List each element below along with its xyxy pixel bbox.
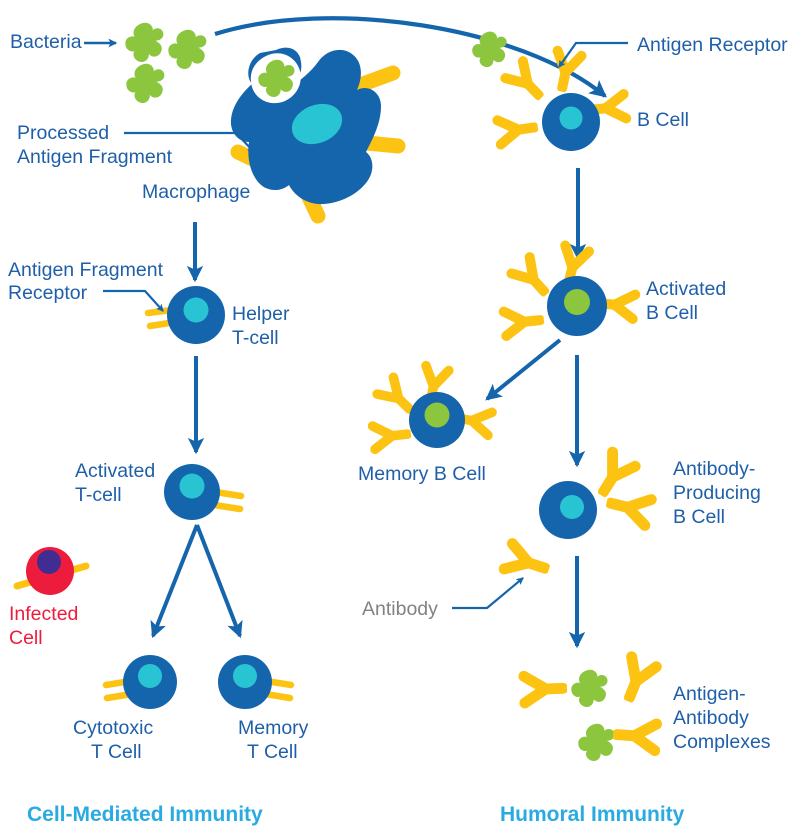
bacteria-group-free <box>125 23 206 103</box>
label-antibody-producing-line1: Antibody- <box>673 457 755 481</box>
label-helper-t-cell-line1: Helper <box>232 302 289 326</box>
memory-t-cell <box>218 655 291 709</box>
activated-b-cell-nucleus <box>564 289 590 315</box>
infected-cell <box>17 547 86 595</box>
label-activated-t-cell-line2: T-cell <box>75 483 122 507</box>
memory-b-cell <box>373 366 493 450</box>
b-cell-nucleus <box>560 107 583 130</box>
label-bacteria: Bacteria <box>10 30 82 54</box>
label-helper-t-cell-line2: T-cell <box>232 326 279 350</box>
label-memory-t-cell-line2: T Cell <box>247 740 298 764</box>
section-title-humoral: Humoral Immunity <box>500 803 684 827</box>
label-antibody-producing-line2: Producing <box>673 481 761 505</box>
label-memory-t-cell-line1: Memory <box>238 716 308 740</box>
antibody-producing-b-cell-nucleus <box>560 495 584 519</box>
label-infected-cell-line2: Cell <box>9 626 43 650</box>
arrow-activated-b-to-memory-b <box>487 340 560 399</box>
split-arrow-activated-t <box>153 525 240 636</box>
antigen-fragment-receptor-leader <box>103 291 163 311</box>
section-title-cell-mediated: Cell-Mediated Immunity <box>27 803 263 827</box>
macrophage-cell <box>231 48 398 216</box>
label-memory-b-cell: Memory B Cell <box>358 462 486 486</box>
label-antigen-antibody-line2: Antibody <box>673 706 749 730</box>
cytotoxic-t-cell-nucleus <box>138 664 162 688</box>
label-processed-antigen-fragment-line1: Processed <box>17 121 109 145</box>
label-b-cell: B Cell <box>637 108 689 132</box>
label-processed-antigen-fragment-line2: Antigen Fragment <box>17 145 172 169</box>
label-activated-b-cell-line1: Activated <box>646 277 726 301</box>
infected-cell-nucleus <box>37 550 61 574</box>
label-cytotoxic-t-cell-line1: Cytotoxic <box>73 716 153 740</box>
antibody <box>504 544 549 581</box>
label-macrophage: Macrophage <box>142 180 250 204</box>
immune-response-diagram: Bacteria Processed Antigen Fragment Macr… <box>0 0 790 833</box>
label-infected-cell-line1: Infected <box>9 602 78 626</box>
activated-b-cell <box>504 245 636 336</box>
helper-t-cell-nucleus <box>184 298 209 323</box>
antibody <box>592 452 635 499</box>
label-antigen-fragment-receptor-line2: Receptor <box>8 281 87 305</box>
b-cell <box>497 51 626 151</box>
antibody <box>607 490 651 525</box>
activated-t-cell-nucleus <box>180 474 205 499</box>
memory-b-cell-nucleus <box>425 403 450 428</box>
label-activated-b-cell-line2: B Cell <box>646 301 698 325</box>
antibody-leader <box>452 578 523 608</box>
label-antigen-antibody-line3: Complexes <box>673 730 771 754</box>
label-antigen-receptor: Antigen Receptor <box>637 33 788 57</box>
antigen-antibody-complexes <box>524 657 657 761</box>
label-activated-t-cell-line1: Activated <box>75 459 155 483</box>
label-antigen-fragment-receptor-line1: Antigen Fragment <box>8 258 163 282</box>
label-antibody: Antibody <box>362 597 438 621</box>
cytotoxic-t-cell <box>106 655 177 709</box>
label-antibody-producing-line3: B Cell <box>673 505 725 529</box>
label-antigen-antibody-line1: Antigen- <box>673 682 746 706</box>
helper-t-cell <box>148 286 225 344</box>
label-cytotoxic-t-cell-line2: T Cell <box>91 740 142 764</box>
activated-t-cell <box>164 464 241 520</box>
memory-t-cell-nucleus <box>233 664 257 688</box>
